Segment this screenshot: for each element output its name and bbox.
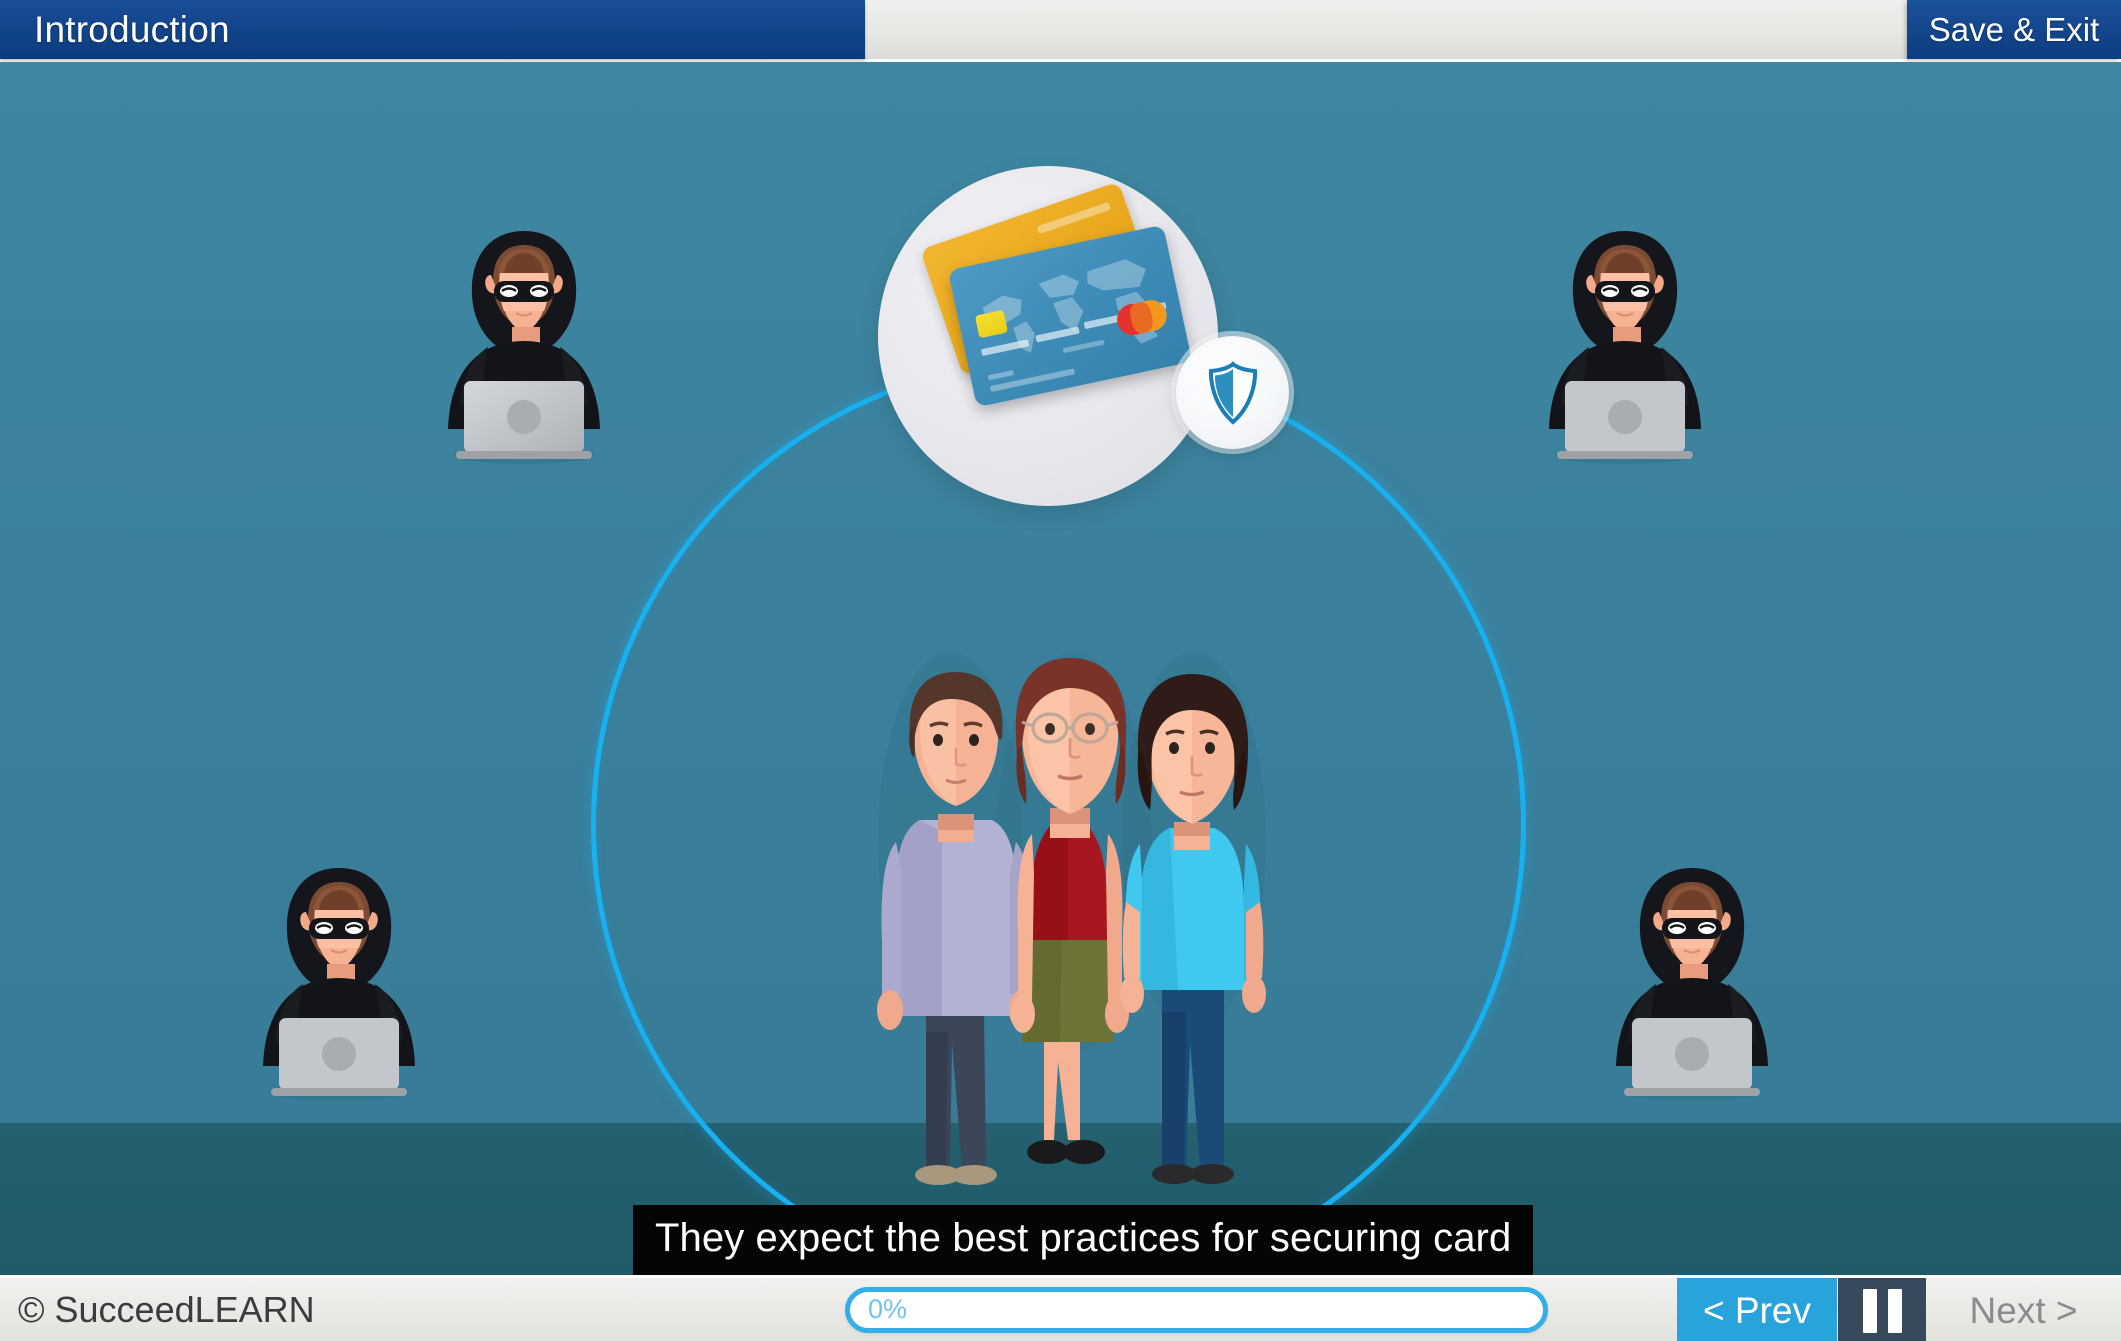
pause-icon <box>1888 1289 1902 1333</box>
woman-cyan-shirt <box>1120 674 1266 1184</box>
hacker-top-right <box>1529 215 1721 465</box>
copyright-notice: © SucceedLEARN <box>18 1289 315 1331</box>
save-and-exit-button[interactable]: Save & Exit <box>1907 0 2121 59</box>
hacker-top-left <box>428 215 620 465</box>
slide-stage: They expect the best practices for secur… <box>0 62 2121 1275</box>
credit-card-illustration <box>878 146 1278 526</box>
lesson-title-block: Introduction <box>0 0 865 59</box>
pause-button[interactable] <box>1838 1278 1926 1341</box>
hacker-bottom-right <box>1596 852 1788 1102</box>
player-header: Introduction Save & Exit <box>0 0 2121 62</box>
next-button[interactable]: Next > <box>1926 1278 2121 1341</box>
shield-icon <box>1205 361 1261 425</box>
player-footer: © SucceedLEARN 0% < Prev Next > <box>0 1275 2121 1341</box>
closed-caption-bar: They expect the best practices for secur… <box>633 1205 1533 1275</box>
navigation-controls: < Prev Next > <box>1677 1278 2121 1341</box>
hacker-bottom-left <box>243 852 435 1102</box>
course-player: Introduction Save & Exit <box>0 0 2121 1341</box>
pause-icon <box>1863 1289 1877 1333</box>
shield-badge <box>1176 336 1289 449</box>
gold-card-stripe <box>1037 202 1111 234</box>
caption-text: They expect the best practices for secur… <box>655 1216 1511 1261</box>
progress-label: 0% <box>850 1294 907 1325</box>
next-label: Next > <box>1970 1290 2078 1332</box>
prev-button[interactable]: < Prev <box>1677 1278 1837 1341</box>
prev-label: < Prev <box>1703 1290 1811 1332</box>
save-and-exit-label: Save & Exit <box>1929 11 2100 49</box>
progress-bar[interactable]: 0% <box>845 1287 1548 1333</box>
page-title: Introduction <box>0 9 230 51</box>
woman-red-top-glasses <box>1011 658 1129 1164</box>
customer-group-illustration <box>822 542 1310 1202</box>
